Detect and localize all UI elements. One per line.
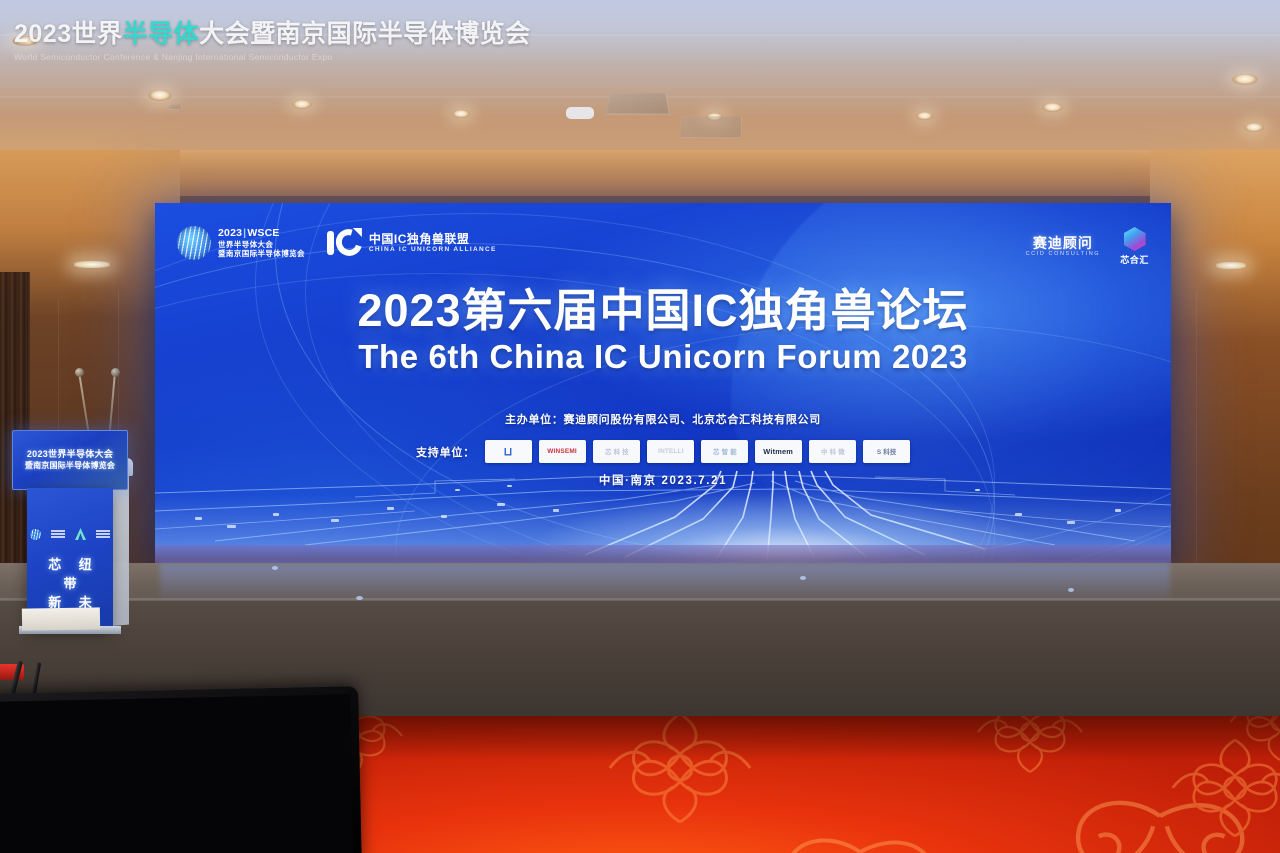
stage-light-speck	[800, 576, 806, 580]
led-stage-screen: 2023|WSCE 世界半导体大会 暨南京国际半导体博览会 中国IC独角兽联盟 …	[155, 203, 1171, 563]
mini-lines-icon	[51, 530, 65, 538]
monitor-screen	[0, 694, 354, 853]
screen-top-right-logos: 赛迪顾问 CCID CONSULTING 芯合汇	[1026, 227, 1149, 266]
ceiling-speaker	[566, 107, 594, 119]
ceiling-downlight	[1232, 74, 1258, 85]
ic-unicorn-alliance-logo: 中国IC独角兽联盟 CHINA IC UNICORN ALLIANCE	[327, 228, 497, 258]
ceiling-fixture	[168, 104, 182, 110]
speaker-podium: 2023世界半导体大会 暨南京国际半导体博览会 芯 纽 带 新 未 来	[7, 430, 131, 630]
forum-title-cn: 2023第六届中国IC独角兽论坛	[155, 287, 1171, 336]
mini-lines-icon	[96, 530, 110, 538]
xinhehui-logo: 芯合汇	[1120, 227, 1149, 266]
foreground-paper	[22, 607, 100, 630]
supporter-logo-3: 芯 科 技	[593, 440, 640, 463]
supporter-logo-1: ⊔	[485, 440, 532, 463]
supporter-logo-7: 中 科 微	[809, 440, 856, 463]
stage-edge-highlight	[0, 598, 1280, 601]
xinhehui-name-cn: 芯合汇	[1120, 253, 1149, 266]
supporter-logo-4: INTELLI	[647, 440, 694, 463]
mic-head-icon	[75, 368, 84, 377]
wsce-logo-text: 2023|WSCE 世界半导体大会 暨南京国际半导体博览会	[218, 227, 305, 258]
venue-date-line: 中国·南京 2023.7.21	[155, 472, 1171, 488]
screen-title-block: 2023第六届中国IC独角兽论坛 The 6th China IC Unicor…	[155, 287, 1171, 376]
podium-slogan-line-1: 芯 纽 带	[27, 556, 113, 594]
supporter-logo-2: WINSEMI	[539, 440, 586, 463]
ccid-name-en: CCID CONSULTING	[1026, 251, 1101, 257]
ceiling-vent	[680, 116, 742, 138]
supporter-label: 支持单位：	[416, 444, 475, 460]
ccid-consulting-logo: 赛迪顾问 CCID CONSULTING	[1026, 235, 1101, 257]
a-mark-icon	[75, 528, 86, 540]
podium-logo-strip	[27, 528, 113, 540]
alliance-logo-text: 中国IC独角兽联盟 CHINA IC UNICORN ALLIANCE	[369, 232, 497, 254]
globe-icon	[177, 226, 211, 260]
ceiling-downlight	[1244, 123, 1264, 132]
ceiling-downlight	[916, 112, 933, 120]
ic-monogram-icon	[327, 228, 363, 258]
ceiling-downlight	[1042, 103, 1063, 112]
podium-header-panel: 2023世界半导体大会 暨南京国际半导体博览会	[12, 430, 128, 490]
ceiling-downlight	[148, 90, 172, 101]
conference-stage-photo: 2023|WSCE 世界半导体大会 暨南京国际半导体博览会 中国IC独角兽联盟 …	[0, 0, 1280, 853]
alliance-name-en: CHINA IC UNICORN ALLIANCE	[369, 246, 497, 254]
supporter-logo-5: 芯 智 能	[701, 440, 748, 463]
wsce-line-3: 暨南京国际半导体博览会	[218, 249, 305, 258]
alliance-name-cn: 中国IC独角兽联盟	[369, 232, 497, 246]
organizer-line: 主办单位：赛迪顾问股份有限公司、北京芯合汇科技有限公司	[155, 411, 1171, 427]
wall-sconce	[1216, 262, 1246, 269]
screen-top-left-logos: 2023|WSCE 世界半导体大会 暨南京国际半导体博览会 中国IC独角兽联盟 …	[177, 226, 497, 260]
wsce-logo: 2023|WSCE 世界半导体大会 暨南京国际半导体博览会	[177, 226, 305, 260]
ceiling-vent	[606, 93, 670, 115]
wall-upper-band	[0, 150, 1280, 202]
wall-seam	[1196, 290, 1197, 590]
xinhehui-hex-icon	[1124, 227, 1146, 251]
globe-icon	[30, 529, 41, 540]
stage-light-speck	[1068, 588, 1074, 592]
mic-head-icon	[111, 368, 120, 377]
supporter-logo-8: S 科技	[863, 440, 910, 463]
wall-sconce	[74, 261, 110, 268]
wsce-year: 2023	[218, 227, 242, 239]
ceiling-haze	[0, 0, 1280, 60]
supporter-logo-6: Witmem	[755, 440, 802, 463]
ceiling-downlight	[12, 36, 38, 46]
ccid-name-cn: 赛迪顾问	[1026, 235, 1101, 251]
wsce-code: WSCE	[247, 227, 279, 239]
foreground-monitor	[0, 686, 362, 853]
screen-bottom-band	[155, 545, 1171, 563]
supporter-row: 支持单位： ⊔ WINSEMI 芯 科 技 INTELLI 芯 智 能 Witm…	[155, 440, 1171, 463]
ceiling-downlight	[292, 100, 312, 109]
forum-title-en: The 6th China IC Unicorn Forum 2023	[155, 338, 1171, 376]
podium-panel-line-1: 2023世界半导体大会	[27, 449, 113, 461]
stage-light-speck	[272, 566, 278, 570]
podium-panel-line-2: 暨南京国际半导体博览会	[25, 461, 115, 471]
stage-light-speck	[356, 596, 363, 600]
ceiling-seam	[0, 34, 1280, 36]
ceiling-downlight	[452, 110, 470, 118]
